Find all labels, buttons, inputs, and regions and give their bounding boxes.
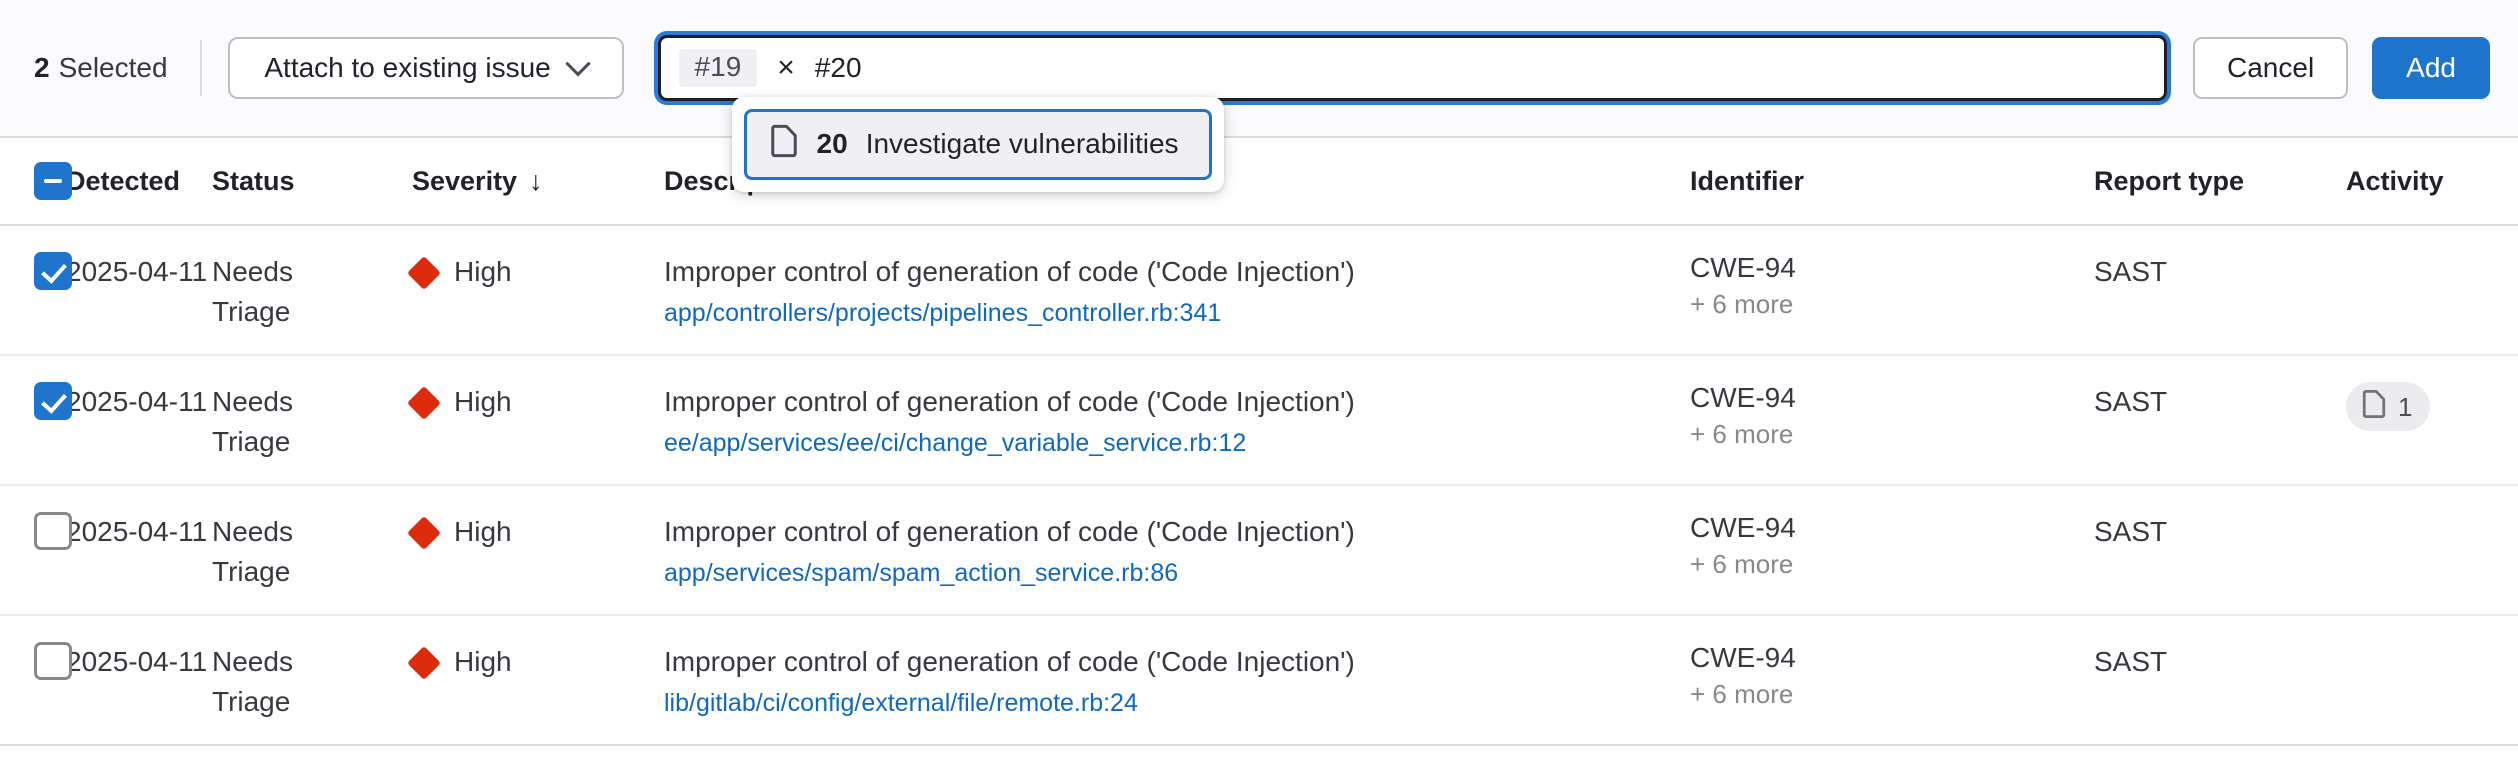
header-severity-label: Severity: [412, 166, 517, 197]
table-row[interactable]: 2025-04-11 NeedsTriage High Improper con…: [0, 616, 2518, 746]
identifier-more[interactable]: + 6 more: [1690, 549, 2094, 580]
description-location-link[interactable]: lib/gitlab/ci/config/external/file/remot…: [664, 685, 1650, 721]
cell-report-type: SAST: [2094, 382, 2346, 422]
cell-severity: High: [412, 252, 664, 292]
identifier-more[interactable]: + 6 more: [1690, 419, 2094, 450]
severity-high-icon: [407, 646, 441, 680]
description-location-link[interactable]: app/controllers/projects/pipelines_contr…: [664, 295, 1650, 331]
cell-report-type: SAST: [2094, 642, 2346, 682]
severity-label: High: [454, 252, 512, 292]
cell-identifier: CWE-94 + 6 more: [1690, 642, 2094, 710]
cell-identifier: CWE-94 + 6 more: [1690, 512, 2094, 580]
header-severity[interactable]: Severity ↓: [412, 166, 664, 197]
issue-icon: [2361, 389, 2387, 424]
severity-high-icon: [407, 256, 441, 290]
cell-detected: 2025-04-11: [66, 382, 212, 422]
issue-token-input[interactable]: #19 × #20: [658, 35, 2167, 101]
select-all-checkbox[interactable]: [34, 162, 72, 200]
cell-description: Improper control of generation of code (…: [664, 512, 1690, 591]
row-checkbox[interactable]: [34, 642, 72, 680]
identifier-more[interactable]: + 6 more: [1690, 289, 2094, 320]
description-title: Improper control of generation of code (…: [664, 252, 1650, 291]
header-identifier: Identifier: [1690, 166, 2094, 197]
activity-badge[interactable]: 1: [2346, 382, 2430, 431]
sort-descending-icon: ↓: [529, 166, 543, 197]
header-activity: Activity: [2346, 166, 2484, 197]
suggestion-item[interactable]: 20 Investigate vulnerabilities: [744, 109, 1212, 180]
cell-status: NeedsTriage: [212, 382, 412, 462]
toolbar-divider: [200, 40, 202, 96]
row-select-cell: [0, 252, 66, 290]
suggestion-issue-id: 20: [817, 128, 848, 160]
header-status[interactable]: Status: [212, 166, 412, 197]
search-input-text[interactable]: #20: [815, 54, 862, 82]
row-checkbox[interactable]: [34, 252, 72, 290]
identifier-primary: CWE-94: [1690, 512, 2094, 544]
identifier-primary: CWE-94: [1690, 382, 2094, 414]
close-icon[interactable]: ×: [761, 53, 811, 83]
row-select-cell: [0, 382, 66, 420]
cell-detected: 2025-04-11: [66, 252, 212, 292]
cell-description: Improper control of generation of code (…: [664, 252, 1690, 331]
cell-report-type: SAST: [2094, 512, 2346, 552]
table-header-row: Detected Status Severity ↓ Description I…: [0, 138, 2518, 226]
cell-detected: 2025-04-11: [66, 512, 212, 552]
table-row[interactable]: 2025-04-11 NeedsTriage High Improper con…: [0, 486, 2518, 616]
vulnerability-table: Detected Status Severity ↓ Description I…: [0, 138, 2518, 746]
header-detected[interactable]: Detected: [66, 166, 212, 197]
table-row[interactable]: 2025-04-11 NeedsTriage High Improper con…: [0, 226, 2518, 356]
row-checkbox[interactable]: [34, 512, 72, 550]
cell-status: NeedsTriage: [212, 512, 412, 592]
cell-description: Improper control of generation of code (…: [664, 382, 1690, 461]
cancel-button[interactable]: Cancel: [2193, 37, 2348, 99]
select-all-cell: [0, 162, 66, 200]
cell-severity: High: [412, 512, 664, 552]
description-location-link[interactable]: ee/app/services/ee/ci/change_variable_se…: [664, 425, 1650, 461]
identifier-more[interactable]: + 6 more: [1690, 679, 2094, 710]
attach-to-existing-issue-dropdown[interactable]: Attach to existing issue: [228, 37, 624, 99]
cell-severity: High: [412, 382, 664, 422]
bulk-action-toolbar: 2 Selected Attach to existing issue #19 …: [0, 0, 2518, 138]
cell-severity: High: [412, 642, 664, 682]
description-title: Improper control of generation of code (…: [664, 642, 1650, 681]
vulnerability-report-page: 2 Selected Attach to existing issue #19 …: [0, 0, 2518, 774]
attach-dropdown-label: Attach to existing issue: [264, 52, 550, 84]
chevron-down-icon: [565, 51, 590, 76]
selected-count-number: 2: [34, 52, 50, 84]
cell-status: NeedsTriage: [212, 252, 412, 332]
table-row[interactable]: 2025-04-11 NeedsTriage High Improper con…: [0, 356, 2518, 486]
severity-label: High: [454, 382, 512, 422]
issue-search-field-wrapper: #19 × #20 20 Investigate vulnerabilities: [658, 35, 2167, 101]
add-button[interactable]: Add: [2372, 37, 2490, 99]
identifier-primary: CWE-94: [1690, 642, 2094, 674]
cell-detected: 2025-04-11: [66, 642, 212, 682]
description-title: Improper control of generation of code (…: [664, 512, 1650, 551]
description-location-link[interactable]: app/services/spam/spam_action_service.rb…: [664, 555, 1650, 591]
selected-count-label: Selected: [59, 52, 168, 84]
cell-identifier: CWE-94 + 6 more: [1690, 382, 2094, 450]
severity-high-icon: [407, 386, 441, 420]
issue-icon: [769, 124, 799, 163]
cell-report-type: SAST: [2094, 252, 2346, 292]
cell-activity: 1: [2346, 382, 2484, 431]
cell-identifier: CWE-94 + 6 more: [1690, 252, 2094, 320]
issue-token-chip[interactable]: #19: [679, 49, 758, 87]
cell-description: Improper control of generation of code (…: [664, 642, 1690, 721]
cell-status: NeedsTriage: [212, 642, 412, 722]
row-checkbox[interactable]: [34, 382, 72, 420]
suggestion-issue-title: Investigate vulnerabilities: [866, 128, 1179, 160]
severity-high-icon: [407, 516, 441, 550]
identifier-primary: CWE-94: [1690, 252, 2094, 284]
description-title: Improper control of generation of code (…: [664, 382, 1650, 421]
activity-count: 1: [2398, 394, 2412, 420]
severity-label: High: [454, 642, 512, 682]
row-select-cell: [0, 642, 66, 680]
selected-count: 2 Selected: [0, 52, 168, 84]
header-report-type: Report type: [2094, 166, 2346, 197]
row-select-cell: [0, 512, 66, 550]
issue-suggestions-dropdown: 20 Investigate vulnerabilities: [732, 97, 1224, 192]
severity-label: High: [454, 512, 512, 552]
